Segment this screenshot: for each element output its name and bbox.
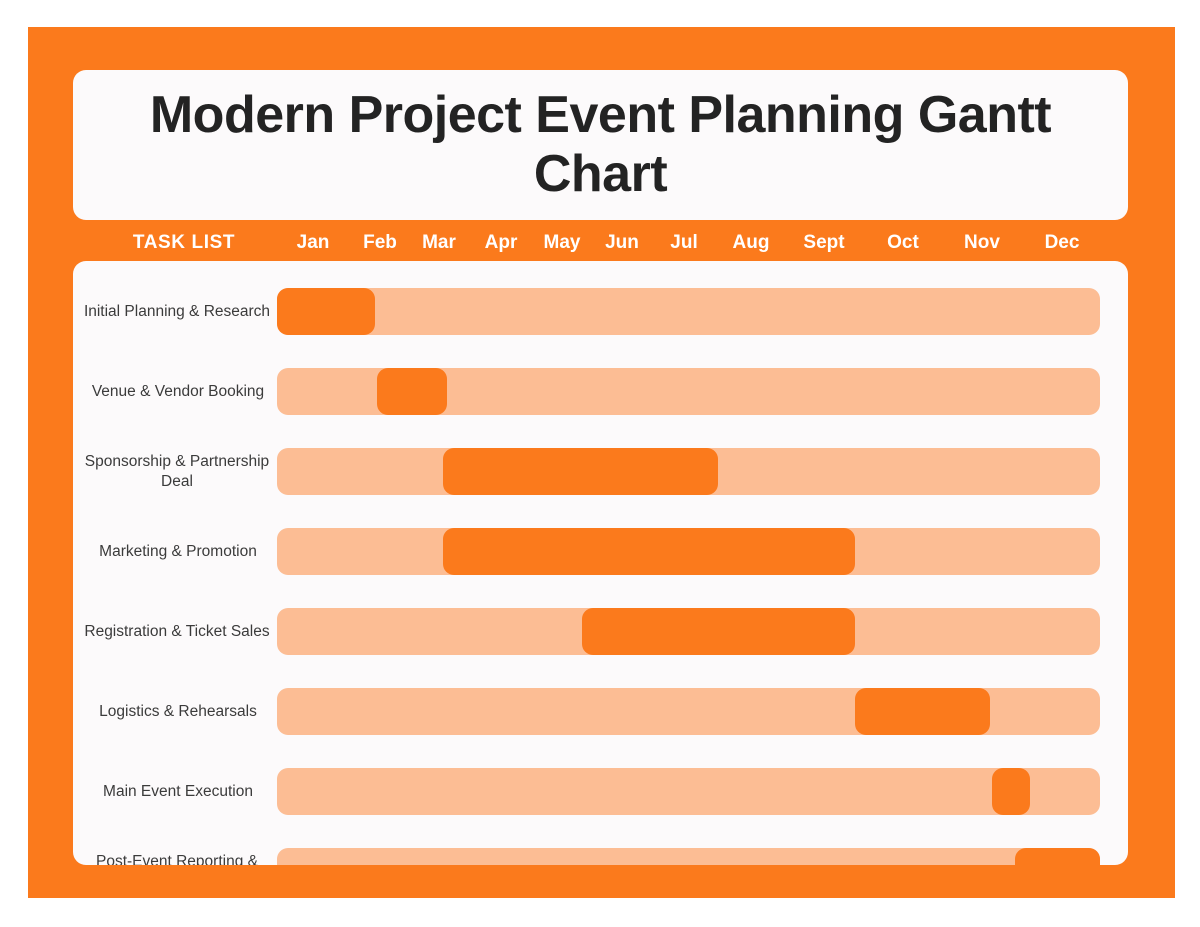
gantt-chart-card: Initial Planning & ResearchVenue & Vendo… [73,261,1128,865]
gantt-row[interactable]: Sponsorship & Partnership Deal [73,448,1128,495]
gantt-track [277,768,1100,815]
column-header-month-dec: Dec [1045,226,1080,260]
gantt-row[interactable]: Main Event Execution [73,768,1128,815]
task-label: Initial Planning & Research [73,288,281,335]
gantt-track [277,288,1100,335]
gantt-bar[interactable] [277,288,375,335]
gantt-row[interactable]: Marketing & Promotion [73,528,1128,575]
gantt-row[interactable]: Post-Event Reporting & Review [73,848,1128,865]
column-header-month-oct: Oct [887,226,919,260]
task-label: Sponsorship & Partnership Deal [73,448,281,495]
task-label: Venue & Vendor Booking [78,368,278,415]
column-header-month-jul: Jul [670,226,697,260]
column-header-month-apr: Apr [485,226,518,260]
task-label: Registration & Ticket Sales [73,608,281,655]
gantt-bar[interactable] [377,368,447,415]
gantt-row[interactable]: Venue & Vendor Booking [73,368,1128,415]
title-card: Modern Project Event Planning Gantt Char… [73,70,1128,220]
column-header-month-jan: Jan [297,226,330,260]
task-label: Logistics & Rehearsals [78,688,278,735]
column-header-month-feb: Feb [363,226,397,260]
gantt-row[interactable]: Logistics & Rehearsals [73,688,1128,735]
task-label: Marketing & Promotion [78,528,278,575]
month-header-strip: TASK LISTJanFebMarAprMayJunJulAugSeptOct… [73,226,1128,260]
task-label: Main Event Execution [78,768,278,815]
gantt-bar[interactable] [582,608,855,655]
gantt-bar[interactable] [992,768,1030,815]
gantt-track [277,848,1100,865]
column-header-task-list: TASK LIST [133,226,235,260]
poster-frame: Modern Project Event Planning Gantt Char… [28,27,1175,898]
gantt-bar[interactable] [443,528,855,575]
column-header-month-nov: Nov [964,226,1000,260]
column-header-month-aug: Aug [733,226,770,260]
column-header-month-may: May [544,226,581,260]
gantt-bar[interactable] [1015,848,1100,865]
column-header-month-mar: Mar [422,226,456,260]
task-label: Post-Event Reporting & Review [73,848,281,865]
column-header-month-jun: Jun [605,226,639,260]
gantt-row[interactable]: Initial Planning & Research [73,288,1128,335]
gantt-bar[interactable] [443,448,718,495]
gantt-bar[interactable] [855,688,990,735]
page-title: Modern Project Event Planning Gantt Char… [73,86,1128,204]
column-header-month-sept: Sept [803,226,844,260]
gantt-row[interactable]: Registration & Ticket Sales [73,608,1128,655]
